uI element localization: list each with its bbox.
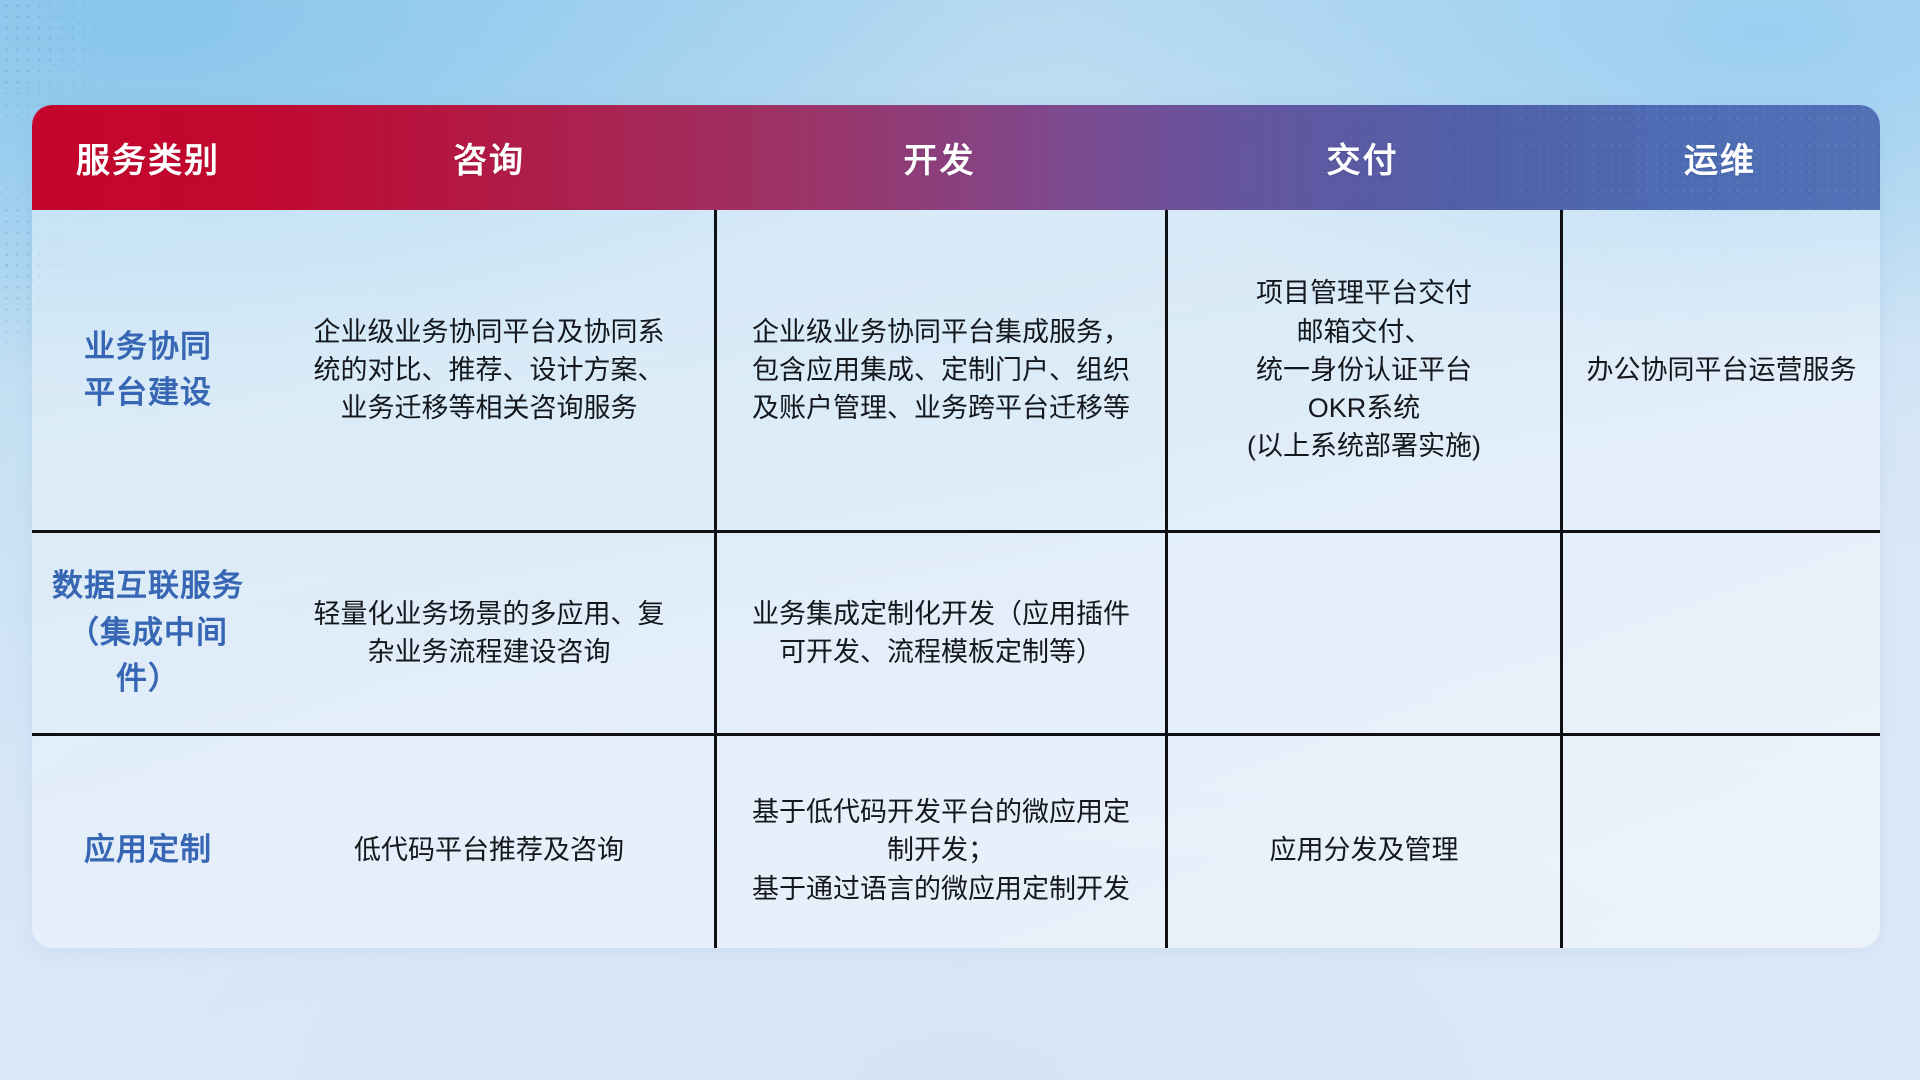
column-header-category: 服务类别 [32, 105, 264, 210]
column-header-delivery: 交付 [1165, 105, 1560, 210]
cell-development: 业务集成定制化开发（应用插件 可开发、流程模板定制等） [714, 533, 1165, 733]
table-body: 业务协同 平台建设 企业级业务协同平台及协同系 统的对比、推荐、设计方案、 业务… [32, 210, 1880, 948]
table-header-row: 服务类别 咨询 开发 交付 运维 [32, 105, 1880, 210]
cell-consulting: 低代码平台推荐及咨询 [264, 736, 714, 948]
cell-consulting: 企业级业务协同平台及协同系 统的对比、推荐、设计方案、 业务迁移等相关咨询服务 [264, 210, 714, 530]
row-category-label: 业务协同 平台建设 [32, 210, 264, 530]
cell-operations: 办公协同平台运营服务 [1560, 210, 1880, 530]
row-category-label: 数据互联服务 （集成中间件） [32, 533, 264, 733]
column-header-consulting: 咨询 [264, 105, 714, 210]
column-header-development: 开发 [714, 105, 1165, 210]
cell-operations [1560, 533, 1880, 733]
cell-development: 企业级业务协同平台集成服务， 包含应用集成、定制门户、组织 及账户管理、业务跨平… [714, 210, 1165, 530]
column-header-operations: 运维 [1560, 105, 1880, 210]
cell-delivery [1165, 533, 1560, 733]
cell-delivery: 应用分发及管理 [1165, 736, 1560, 948]
service-matrix-card: 服务类别 咨询 开发 交付 运维 业务协同 平台建设 企业级业务协同平台及协同系… [32, 105, 1880, 948]
table-row: 应用定制 低代码平台推荐及咨询 基于低代码开发平台的微应用定 制开发； 基于通过… [32, 736, 1880, 948]
row-category-label: 应用定制 [32, 736, 264, 948]
table-row: 数据互联服务 （集成中间件） 轻量化业务场景的多应用、复 杂业务流程建设咨询 业… [32, 533, 1880, 736]
cell-development: 基于低代码开发平台的微应用定 制开发； 基于通过语言的微应用定制开发 [714, 736, 1165, 948]
cell-operations [1560, 736, 1880, 948]
cell-consulting: 轻量化业务场景的多应用、复 杂业务流程建设咨询 [264, 533, 714, 733]
cell-delivery: 项目管理平台交付 邮箱交付、 统一身份认证平台 OKR系统 (以上系统部署实施) [1165, 210, 1560, 530]
table-row: 业务协同 平台建设 企业级业务协同平台及协同系 统的对比、推荐、设计方案、 业务… [32, 210, 1880, 533]
